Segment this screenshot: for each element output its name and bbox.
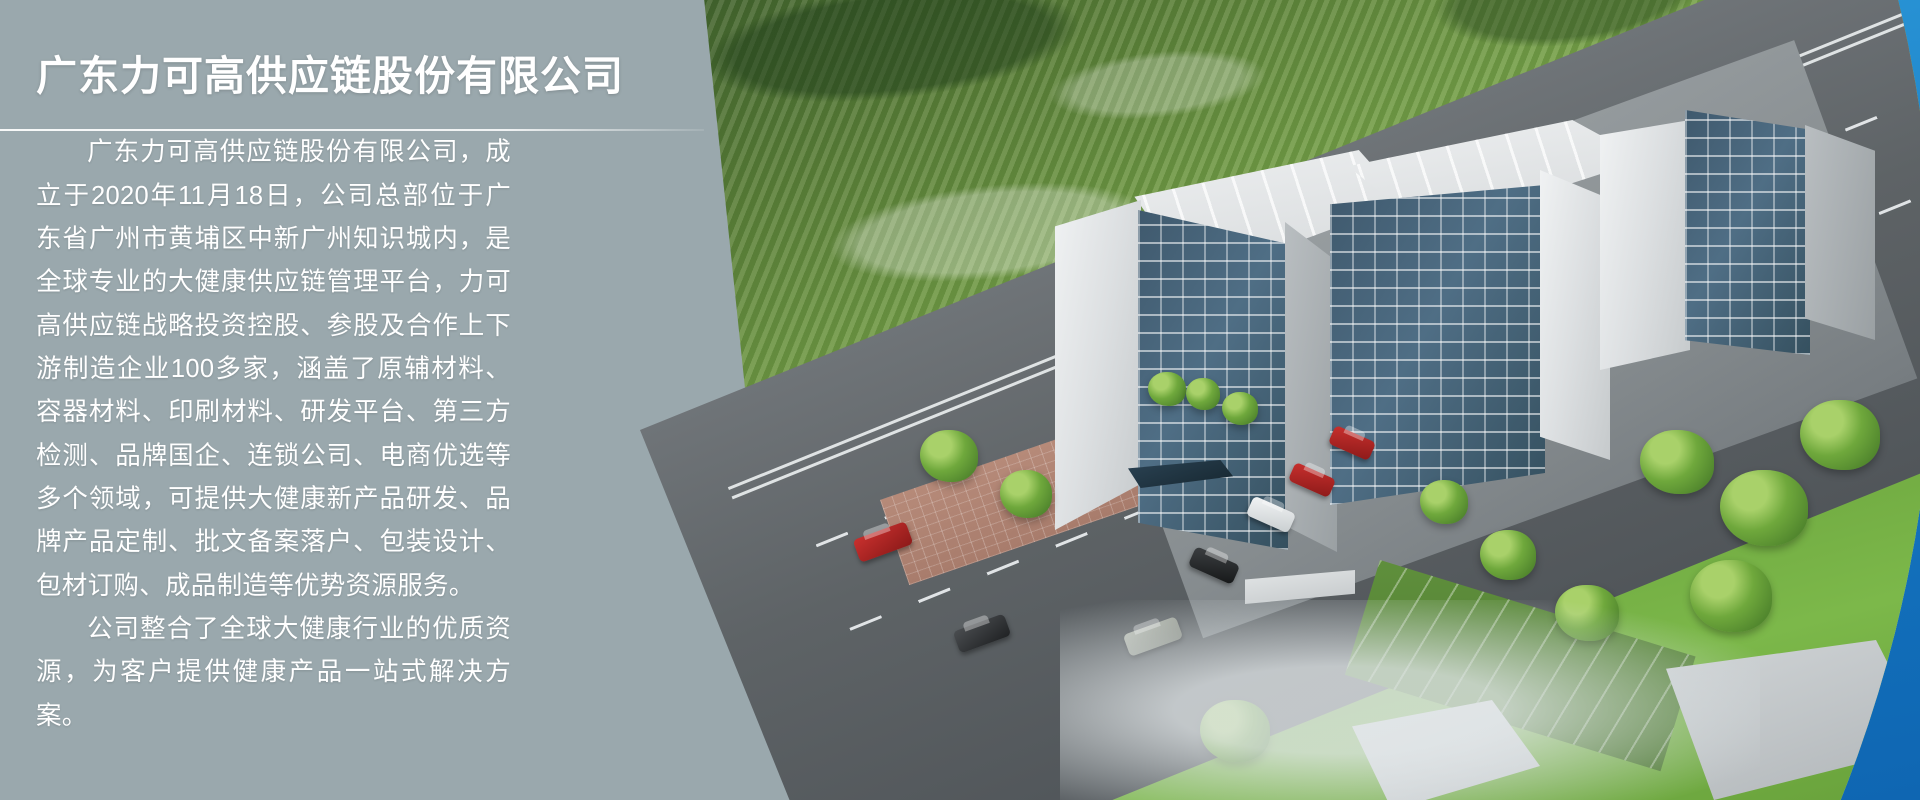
street-tree xyxy=(1222,392,1258,425)
park-tree xyxy=(1800,400,1880,470)
street-tree xyxy=(1186,378,1220,410)
street-tree xyxy=(920,430,978,482)
rear-building-c xyxy=(1805,125,1875,340)
title-divider xyxy=(0,129,704,131)
photo-haze xyxy=(1060,600,1760,800)
text-panel: 广东力可高供应链股份有限公司 广东力可高供应链股份有限公司，成立于2020年11… xyxy=(0,0,760,800)
secondary-block-side xyxy=(1540,170,1610,460)
intro-body: 广东力可高供应链股份有限公司，成立于2020年11月18日，公司总部位于广东省广… xyxy=(36,131,511,738)
rear-building-a xyxy=(1600,120,1690,370)
intro-paragraph-2: 公司整合了全球大健康行业的优质资源，为客户提供健康产品一站式解决方案。 xyxy=(36,608,511,738)
street-tree xyxy=(1480,530,1536,580)
main-tower-side-face xyxy=(1055,200,1141,530)
intro-paragraph-1: 广东力可高供应链股份有限公司，成立于2020年11月18日，公司总部位于广东省广… xyxy=(36,131,511,608)
park-tree xyxy=(1640,430,1714,494)
street-tree xyxy=(1148,372,1186,406)
street-tree xyxy=(1000,470,1052,518)
page-title: 广东力可高供应链股份有限公司 xyxy=(36,52,704,101)
company-intro-banner: 广东力可高供应链股份有限公司 广东力可高供应链股份有限公司，成立于2020年11… xyxy=(0,0,1920,800)
rear-building-b xyxy=(1685,110,1810,355)
main-tower-corner-face xyxy=(1285,222,1337,552)
park-tree xyxy=(1720,470,1808,546)
street-tree xyxy=(1420,480,1468,524)
